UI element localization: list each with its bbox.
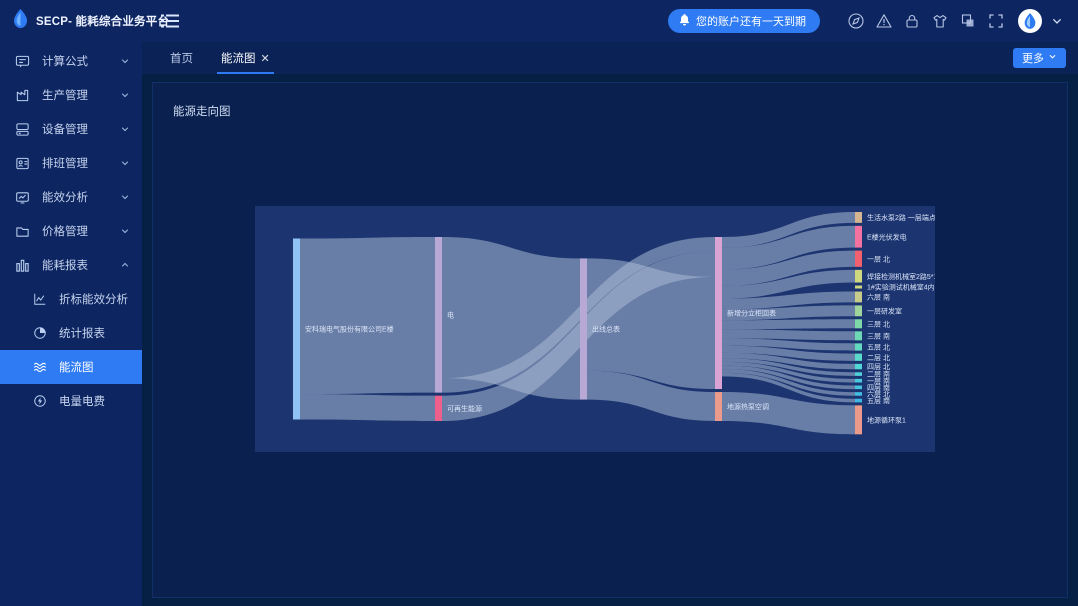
- account-expiry-notice[interactable]: 您的账户还有一天到期: [668, 9, 820, 33]
- sankey-node-label: 地源热泵空调: [727, 402, 769, 411]
- chevron-down-icon: [120, 90, 130, 100]
- shirt-icon[interactable]: [926, 7, 954, 35]
- sankey-node[interactable]: [715, 237, 722, 389]
- sankey-node[interactable]: [855, 212, 862, 223]
- chevron-down-icon: [120, 56, 130, 66]
- bell-icon: [679, 14, 690, 29]
- sankey-node-label: 电: [447, 310, 454, 319]
- sidebar-subitem-standard-efficiency[interactable]: 折标能效分析: [0, 282, 142, 316]
- tab-sankey[interactable]: 能流图 ✕: [207, 42, 284, 74]
- tab-label: 能流图: [221, 50, 256, 66]
- sankey-node[interactable]: [855, 226, 862, 248]
- chevron-up-icon: [120, 260, 130, 270]
- tab-strip: 首页 能流图 ✕ 更多: [142, 42, 1078, 74]
- sidebar-item-schedule[interactable]: 排班管理: [0, 146, 142, 180]
- monitor-icon: [14, 189, 31, 206]
- sankey-node[interactable]: [855, 364, 862, 369]
- sankey-node[interactable]: [855, 331, 862, 340]
- sidebar-subitem-electricity-fee[interactable]: 电量电费: [0, 384, 142, 418]
- sankey-chart[interactable]: 安科瑞电气股份有限公司E楼电可再生能源出线总表新增分立柜回表地源热泵空调生活水泵…: [255, 206, 935, 452]
- page-title: 能源走向图: [173, 103, 231, 119]
- sidebar-item-label: 生产管理: [42, 87, 88, 103]
- chevron-down-icon: [1048, 52, 1057, 64]
- sidebar-subitem-statistic-report[interactable]: 统计报表: [0, 316, 142, 350]
- sankey-link[interactable]: [722, 319, 855, 329]
- user-menu-chevron-down-icon[interactable]: [1046, 10, 1068, 32]
- sidebar-item-energy-report[interactable]: 能耗报表: [0, 248, 142, 282]
- sankey-node-label: E楼光伏发电: [867, 232, 907, 241]
- sankey-node-label: 四层 北: [867, 363, 890, 371]
- more-button[interactable]: 更多: [1013, 48, 1066, 68]
- sankey-node[interactable]: [855, 354, 862, 361]
- sankey-node[interactable]: [855, 372, 862, 376]
- sankey-node[interactable]: [855, 286, 862, 289]
- folder-icon: [14, 223, 31, 240]
- tab-label: 首页: [170, 50, 193, 66]
- sankey-svg: 安科瑞电气股份有限公司E楼电可再生能源出线总表新增分立柜回表地源热泵空调生活水泵…: [255, 206, 935, 452]
- content-panel: 能源走向图 安科瑞电气股份有限公司E楼电可再生能源出线总表新增分立柜回表地源热泵…: [152, 82, 1068, 598]
- sidebar: 计算公式 生产管理 设备管理: [0, 42, 142, 606]
- sidebar-subitem-label: 能流图: [59, 359, 94, 375]
- sankey-node[interactable]: [855, 305, 862, 316]
- sankey-link[interactable]: [300, 237, 435, 394]
- sankey-node-label: 出线总表: [592, 325, 620, 334]
- sankey-node[interactable]: [855, 292, 862, 303]
- sidebar-subitem-label: 电量电费: [59, 393, 105, 409]
- avatar[interactable]: [1018, 9, 1042, 33]
- schedule-icon: [14, 155, 31, 172]
- hamburger-icon[interactable]: [160, 11, 180, 31]
- sankey-node-label: 可再生能源: [447, 404, 482, 413]
- chevron-down-icon: [120, 158, 130, 168]
- sidebar-subitem-label: 折标能效分析: [59, 291, 128, 307]
- sidebar-item-label: 排班管理: [42, 155, 88, 171]
- chevron-down-icon: [120, 192, 130, 202]
- sankey-node-label: 三层 南: [867, 331, 890, 340]
- sankey-node-label: 一层 北: [867, 255, 890, 263]
- pie-chart-icon: [32, 326, 47, 341]
- sidebar-item-price[interactable]: 价格管理: [0, 214, 142, 248]
- line-chart-icon: [32, 292, 47, 307]
- sidebar-item-label: 能耗报表: [42, 257, 88, 273]
- sankey-node[interactable]: [293, 239, 300, 420]
- sankey-node-label: 新增分立柜回表: [727, 309, 776, 318]
- sankey-node[interactable]: [855, 319, 862, 328]
- formula-icon: [14, 53, 31, 70]
- sankey-node[interactable]: [855, 270, 862, 283]
- brand-name: SECP- 能耗综合业务平台: [36, 13, 169, 29]
- copy-icon[interactable]: [954, 7, 982, 35]
- chevron-down-icon: [120, 226, 130, 236]
- sankey-node[interactable]: [855, 392, 862, 396]
- brand[interactable]: SECP- 能耗综合业务平台: [0, 0, 142, 42]
- flame-logo-icon: [12, 9, 29, 33]
- bar-chart-icon: [14, 257, 31, 274]
- sankey-node-label: 地源循环泵1: [867, 415, 906, 424]
- sankey-node[interactable]: [435, 237, 442, 393]
- more-label: 更多: [1022, 50, 1044, 66]
- sidebar-item-label: 能效分析: [42, 189, 88, 205]
- sankey-node-label: 五层 北: [867, 344, 890, 352]
- top-bar-actions: 您的账户还有一天到期: [668, 7, 1078, 35]
- chevron-down-icon: [120, 124, 130, 134]
- sidebar-subitem-label: 统计报表: [59, 325, 105, 341]
- sankey-node[interactable]: [855, 399, 862, 403]
- sidebar-item-device[interactable]: 设备管理: [0, 112, 142, 146]
- sankey-node-label: 1#实验测试机械室4内: [867, 283, 935, 292]
- sankey-link[interactable]: [587, 258, 715, 389]
- sankey-node-label: 生活水泵2路 一层端点: [867, 213, 935, 222]
- sankey-link[interactable]: [300, 394, 435, 421]
- sidebar-item-label: 计算公式: [42, 53, 88, 69]
- sankey-node-label: 五层 南: [867, 396, 890, 405]
- sankey-node[interactable]: [715, 392, 722, 421]
- sidebar-item-efficiency[interactable]: 能效分析: [0, 180, 142, 214]
- close-icon[interactable]: ✕: [261, 52, 270, 65]
- bolt-circle-icon: [32, 394, 47, 409]
- sidebar-item-production[interactable]: 生产管理: [0, 78, 142, 112]
- fullscreen-icon[interactable]: [982, 7, 1010, 35]
- sankey-node[interactable]: [855, 343, 862, 350]
- lock-icon[interactable]: [898, 7, 926, 35]
- sankey-node-label: 安科瑞电气股份有限公司E楼: [305, 325, 394, 334]
- compass-icon[interactable]: [842, 7, 870, 35]
- factory-icon: [14, 87, 31, 104]
- sankey-node[interactable]: [855, 405, 862, 434]
- sidebar-item-formula[interactable]: 计算公式: [0, 44, 142, 78]
- sidebar-item-label: 设备管理: [42, 121, 88, 137]
- app-root: SECP- 能耗综合业务平台 您的账户还有一天到期: [0, 0, 1078, 606]
- wave-icon: [32, 360, 47, 375]
- sankey-link[interactable]: [722, 366, 855, 390]
- device-icon: [14, 121, 31, 138]
- notice-text: 您的账户还有一天到期: [696, 13, 806, 29]
- sidebar-item-label: 价格管理: [42, 223, 88, 239]
- sankey-node[interactable]: [580, 258, 587, 399]
- sankey-node[interactable]: [855, 251, 862, 267]
- sankey-node-label: 一层研发室: [867, 306, 902, 315]
- sankey-node[interactable]: [855, 379, 862, 383]
- warning-icon[interactable]: [870, 7, 898, 35]
- sankey-node-label: 二层 北: [867, 354, 890, 362]
- sankey-node-label: 六层 南: [867, 293, 890, 302]
- sankey-node[interactable]: [855, 386, 862, 390]
- top-bar: SECP- 能耗综合业务平台 您的账户还有一天到期: [0, 0, 1078, 42]
- tab-home[interactable]: 首页: [156, 42, 207, 74]
- sankey-node[interactable]: [435, 396, 442, 421]
- sankey-node-label: 三层 北: [867, 320, 890, 328]
- sankey-node-label: 焊接检测机械室2路5*10: [867, 272, 935, 281]
- sidebar-subitem-sankey[interactable]: 能流图: [0, 350, 142, 384]
